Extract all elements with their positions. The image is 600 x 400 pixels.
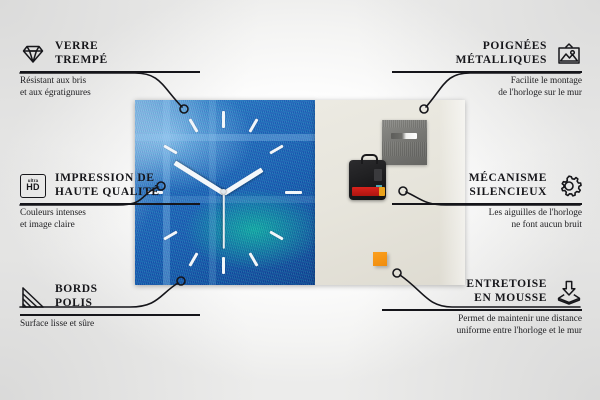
- feature-divider: [20, 71, 200, 73]
- feature-header: ultra HD IMPRESSION DE HAUTE QUALITÉ: [20, 172, 200, 199]
- clock-hour-hand: [223, 168, 264, 196]
- feature-mecanisme-silencieux[interactable]: MÉCANISME SILENCIEUX Les aiguilles de l'…: [392, 172, 582, 231]
- mechanism-detail: [374, 169, 382, 181]
- feature-title: VERRE TREMPÉ: [55, 40, 108, 67]
- tick-3: [285, 191, 302, 194]
- feature-divider: [392, 203, 582, 205]
- quartz-mechanism: [349, 160, 386, 200]
- tick-5: [248, 252, 258, 266]
- picture-hanger-icon: [556, 41, 582, 67]
- art-band-v2: [209, 100, 216, 285]
- feature-verre-trempe[interactable]: VERRE TREMPÉ Résistant aux bris et aux é…: [20, 40, 200, 99]
- feature-header: BORDS POLIS: [20, 283, 200, 310]
- polished-edges-icon: [20, 284, 46, 310]
- mechanism-hook: [361, 154, 378, 164]
- metal-bracket: [382, 120, 427, 165]
- feature-divider: [20, 314, 200, 316]
- ultra-hd-icon-main-label: HD: [26, 183, 40, 193]
- feature-description: Couleurs intenses et image claire: [20, 208, 200, 231]
- tick-2: [269, 144, 283, 154]
- battery-plus-terminal: [379, 187, 385, 196]
- feature-header: VERRE TREMPÉ: [20, 40, 200, 67]
- feature-divider: [392, 71, 582, 73]
- feature-title: MÉCANISME SILENCIEUX: [469, 172, 547, 199]
- feature-title: IMPRESSION DE HAUTE QUALITÉ: [55, 172, 160, 199]
- feature-title: POIGNÉES MÉTALLIQUES: [456, 40, 547, 67]
- gear-icon: [556, 173, 582, 199]
- feature-impression-haute-qualite[interactable]: ultra HD IMPRESSION DE HAUTE QUALITÉ Cou…: [20, 172, 200, 231]
- bracket-slot: [391, 133, 417, 139]
- ultra-hd-icon: ultra HD: [20, 174, 46, 198]
- feature-description: Permet de maintenir une distance uniform…: [382, 314, 582, 337]
- feature-header: POIGNÉES MÉTALLIQUES: [392, 40, 582, 67]
- feature-title: BORDS POLIS: [55, 283, 98, 310]
- foam-spacer-icon: [556, 279, 582, 305]
- tick-4: [269, 230, 283, 240]
- tick-11: [188, 118, 198, 132]
- diamond-icon: [20, 41, 46, 67]
- feature-title: ENTRETOISE EN MOUSSE: [466, 278, 547, 305]
- feature-header: ENTRETOISE EN MOUSSE: [382, 278, 582, 305]
- art-band-h1: [135, 134, 315, 141]
- tick-12: [222, 111, 225, 128]
- feature-header: MÉCANISME SILENCIEUX: [392, 172, 582, 199]
- feature-bords-polis[interactable]: BORDS POLIS Surface lisse et sûre: [20, 283, 200, 331]
- feature-description: Facilite le montage de l'horloge sur le …: [392, 76, 582, 99]
- feature-poignees-metalliques[interactable]: POIGNÉES MÉTALLIQUES Facilite le montage…: [392, 40, 582, 99]
- feature-description: Les aiguilles de l'horloge ne font aucun…: [392, 208, 582, 231]
- feature-description: Résistant aux bris et aux égratignures: [20, 76, 200, 99]
- feature-divider: [382, 309, 582, 311]
- feature-description: Surface lisse et sûre: [20, 319, 200, 330]
- tick-7: [188, 252, 198, 266]
- feature-divider: [20, 203, 200, 205]
- clock-second-hand: [223, 193, 225, 249]
- clock-center-pin: [221, 189, 226, 194]
- tick-1: [248, 118, 258, 132]
- tick-6: [222, 257, 225, 274]
- feature-entretoise-en-mousse[interactable]: ENTRETOISE EN MOUSSE Permet de maintenir…: [382, 278, 582, 337]
- infographic-stage: VERRE TREMPÉ Résistant aux bris et aux é…: [0, 0, 600, 400]
- foam-spacer: [373, 252, 387, 266]
